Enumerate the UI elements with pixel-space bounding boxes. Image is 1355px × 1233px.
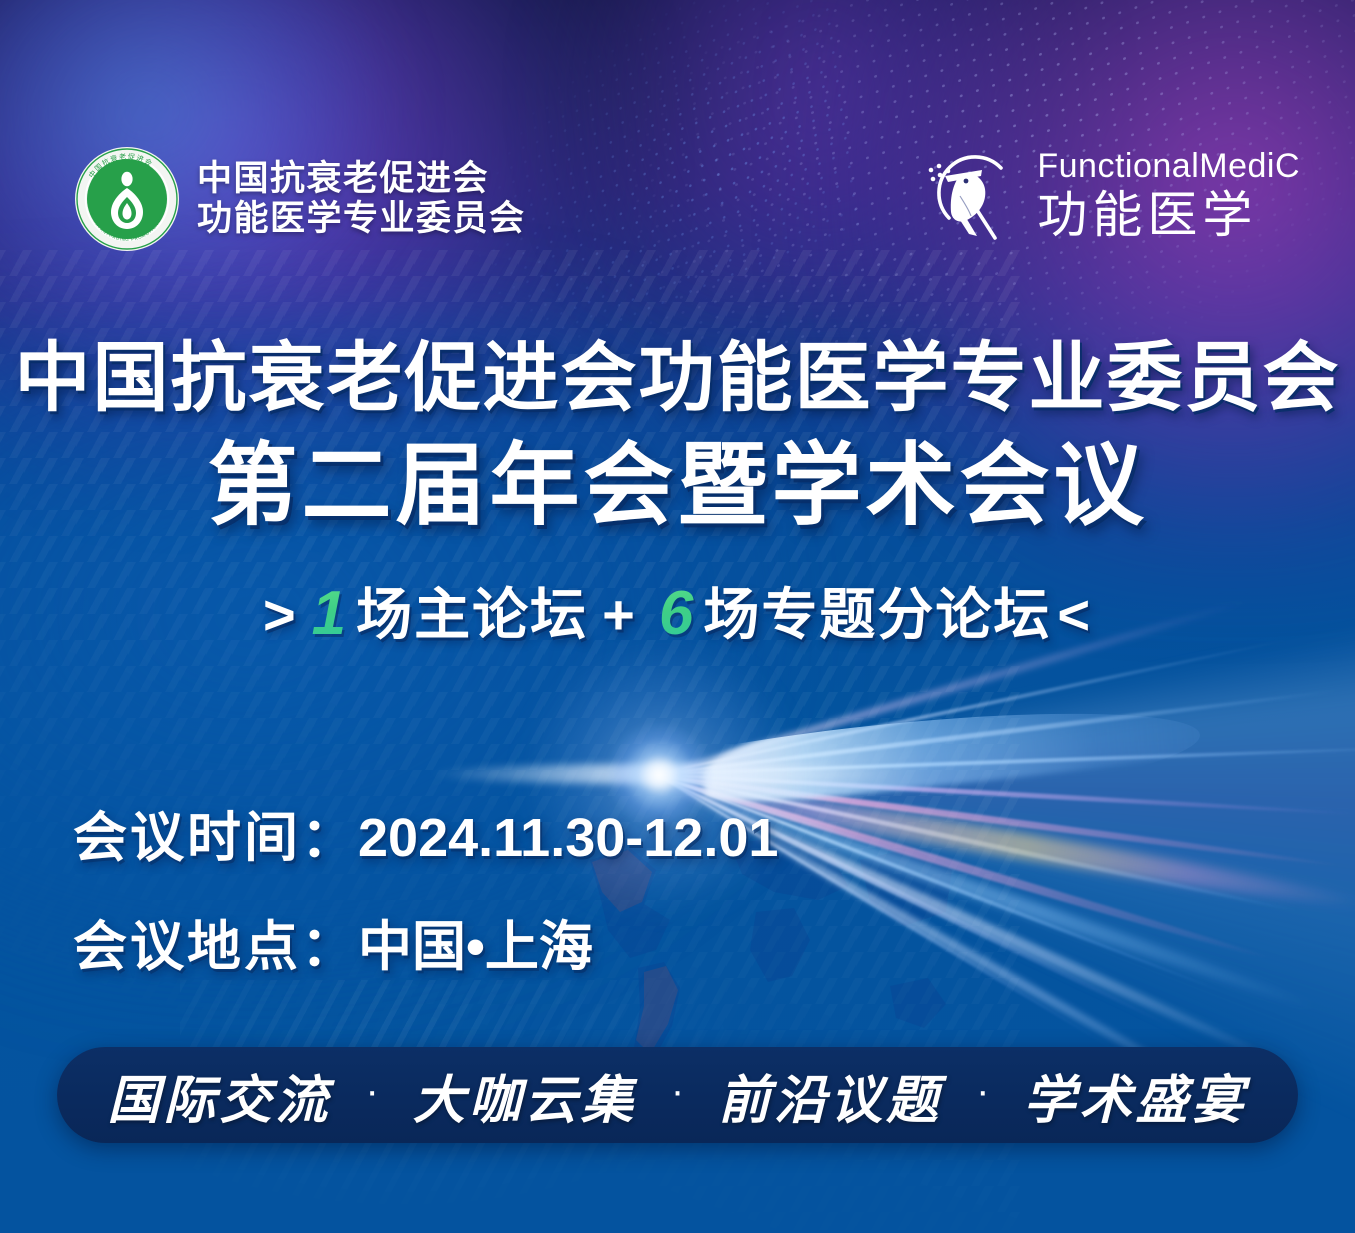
keyword-item: 学术盛宴 [1024,1058,1248,1133]
left-chevron-icon: > [257,582,304,647]
left-logo-text: 中国抗衰老促进会 功能医学专业委员会 [197,159,526,239]
keyword-separator-icon: · [976,1071,989,1111]
keyword-item: 大咖云集 [413,1058,637,1133]
kingfisher-bird-icon [919,140,1023,250]
forum-plus-sign: + [588,583,651,646]
conference-poster: 中国抗衰老促进会 CHINA ANTI-AGING PROMOTION ASSO… [0,0,1355,1233]
right-chevron-icon: < [1051,582,1098,647]
caap-seal-icon: 中国抗衰老促进会 CHINA ANTI-AGING PROMOTION ASSO… [73,145,181,253]
right-brand-logo: FunctionalMediC 功能医学 [919,140,1300,250]
conference-place-label: 会议地点： [73,917,358,977]
main-forum-label: 场主论坛 [356,583,588,646]
conference-time-value: 2024.11.30-12.01 [358,808,778,868]
keyword-separator-icon: · [365,1071,378,1111]
conference-info-block: 会议时间：2024.11.30-12.01 会议地点：中国•上海 [73,793,778,1011]
main-forum-count: 1 [304,579,356,648]
conference-time-label: 会议时间： [73,808,358,868]
conference-time-row: 会议时间：2024.11.30-12.01 [73,793,778,872]
forum-count-line: >1场主论坛+6场专题分论坛< [0,570,1355,651]
keywords-banner: 国际交流 · 大咖云集 · 前沿议题 · 学术盛宴 [57,1047,1298,1143]
page-subtitle: 第二届年会暨学术会议 [0,437,1355,536]
right-logo-text: FunctionalMediC 功能医学 [1037,149,1300,242]
brand-english-name: FunctionalMediC [1037,149,1300,183]
brand-chinese-name: 功能医学 [1037,189,1257,242]
headline-block: 中国抗衰老促进会功能医学专业委员会 第二届年会暨学术会议 >1场主论坛+6场专题… [0,336,1355,651]
keyword-item: 国际交流 [107,1058,331,1133]
left-logo-line-1: 中国抗衰老促进会 [197,159,526,199]
left-organization-logo: 中国抗衰老促进会 CHINA ANTI-AGING PROMOTION ASSO… [73,145,526,253]
page-title: 中国抗衰老促进会功能医学专业委员会 [0,336,1355,421]
sub-forum-label: 场专题分论坛 [703,583,1051,646]
keyword-item: 前沿议题 [718,1058,942,1133]
keyword-separator-icon: · [671,1071,684,1111]
sub-forum-count: 6 [651,579,703,648]
left-logo-line-2: 功能医学专业委员会 [197,199,526,239]
conference-place-row: 会议地点：中国•上海 [73,902,778,981]
conference-place-value: 中国•上海 [358,917,593,977]
